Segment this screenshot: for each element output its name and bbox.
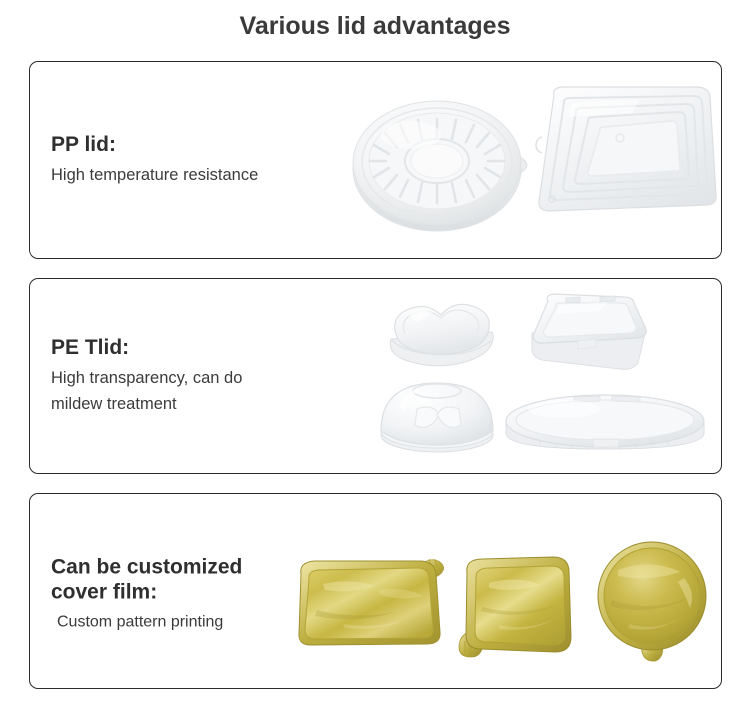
card-pp-lid-description: High temperature resistance <box>51 162 341 188</box>
gold-square-cover-film-image <box>453 549 581 665</box>
card-pe-tlid-text: PE Tlid: High transparency, can do milde… <box>51 335 341 417</box>
card-pp-lid: PP lid: High temperature resistance <box>29 61 722 259</box>
card-cover-film: Can be customized cover film: Custom pat… <box>29 493 722 689</box>
gold-rectangular-cover-film-image <box>283 544 458 654</box>
page-title: Various lid advantages <box>0 10 750 42</box>
card-pp-lid-heading: PP lid: <box>51 132 341 157</box>
card-pe-tlid-description: High transparency, can do mildew treatme… <box>51 365 341 417</box>
card-pp-lid-figures <box>345 62 721 258</box>
infographic-page: Various lid advantages PP lid: High temp… <box>0 0 750 712</box>
gold-round-cover-film-image <box>588 538 722 668</box>
card-pp-lid-text: PP lid: High temperature resistance <box>51 132 341 188</box>
rectangular-pp-lid-image <box>520 75 722 240</box>
card-pe-tlid-heading: PE Tlid: <box>51 335 341 360</box>
dome-cup-lid-image <box>373 377 503 457</box>
card-pe-tlid-figures <box>345 279 721 473</box>
card-pe-tlid: PE Tlid: High transparency, can do milde… <box>29 278 722 474</box>
card-cover-film-figures <box>345 494 721 688</box>
square-pet-lid-image <box>520 291 660 377</box>
round-pp-lid-image <box>349 83 539 238</box>
flat-oval-lid-image <box>500 387 710 461</box>
heart-shaped-pet-lid-image <box>375 293 515 375</box>
